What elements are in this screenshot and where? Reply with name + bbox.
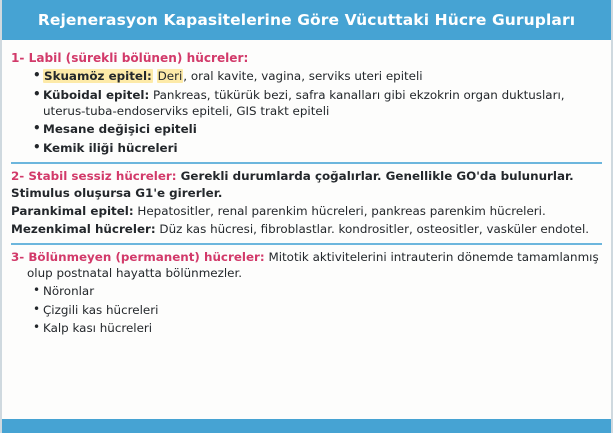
bullet-highlighted-word: Deri (157, 69, 184, 83)
section-heading-permanent: 3- Bölünmeyen (permanent) hücreler: Mito… (11, 249, 602, 281)
paragraph-mezenkimal: Mezenkimal hücreler: Düz kas hücresi, fi… (11, 221, 602, 237)
section-heading-label: 3- Bölünmeyen (permanent) hücreler: (11, 250, 265, 264)
section-divider-2 (11, 243, 602, 245)
list-item: Skuamöz epitel: Deri, oral kavite, vagin… (33, 68, 602, 84)
slide-footer-bar (2, 419, 611, 433)
bullet-lead: Küboidal epitel: (43, 88, 149, 102)
section-labil: 1- Labil (sürekli bölünen) hücreler: Sku… (11, 50, 602, 156)
bullet-list-permanent: Nöronlar Çizgili kas hücreleri Kalp kası… (11, 283, 602, 336)
paragraph-lead: Parankimal epitel: (11, 204, 134, 218)
bullet-lead: Mesane değişici epiteli (43, 122, 197, 136)
bullet-lead: Nöronlar (43, 284, 94, 298)
bullet-rest: , oral kavite, vagina, serviks uteri epi… (183, 69, 422, 83)
list-item: Kemik iliği hücreleri (33, 140, 602, 156)
slide-content: 1- Labil (sürekli bölünen) hücreler: Sku… (2, 40, 611, 419)
page-title: Rejenerasyon Kapasitelerine Göre Vücutta… (38, 11, 575, 29)
bullet-list-labil: Skuamöz epitel: Deri, oral kavite, vagin… (11, 68, 602, 156)
section-permanent: 3- Bölünmeyen (permanent) hücreler: Mito… (11, 249, 602, 337)
list-item: Çizgili kas hücreleri (33, 302, 602, 318)
paragraph-parankimal: Parankimal epitel: Hepatositler, renal p… (11, 203, 602, 219)
list-item: Kalp kası hücreleri (33, 320, 602, 336)
paragraph-lead: Mezenkimal hücreler: (11, 222, 156, 236)
slide-container: Rejenerasyon Kapasitelerine Göre Vücutta… (0, 0, 613, 433)
bullet-lead-highlighted: Skuamöz epitel: (43, 69, 153, 83)
section-heading-stabil: 2- Stabil sessiz hücreler: Gerekli durum… (11, 168, 602, 200)
section-heading-labil: 1- Labil (sürekli bölünen) hücreler: (11, 50, 602, 66)
section-stabil: 2- Stabil sessiz hücreler: Gerekli durum… (11, 168, 602, 237)
section-heading-label: 2- Stabil sessiz hücreler: (11, 169, 177, 183)
paragraph-rest: Hepatositler, renal parenkim hücreleri, … (134, 204, 546, 218)
list-item: Nöronlar (33, 283, 602, 299)
list-item: Küboidal epitel: Pankreas, tükürük bezi,… (33, 87, 602, 120)
slide-title-bar: Rejenerasyon Kapasitelerine Göre Vücutta… (2, 0, 611, 40)
paragraph-rest: Düz kas hücresi, fibroblastlar. kondrosi… (156, 222, 589, 236)
list-item: Mesane değişici epiteli (33, 121, 602, 137)
bullet-lead: Kemik iliği hücreleri (43, 141, 178, 155)
section-divider-1 (11, 162, 602, 164)
bullet-lead: Çizgili kas hücreleri (43, 303, 158, 317)
bullet-lead: Kalp kası hücreleri (43, 321, 152, 335)
